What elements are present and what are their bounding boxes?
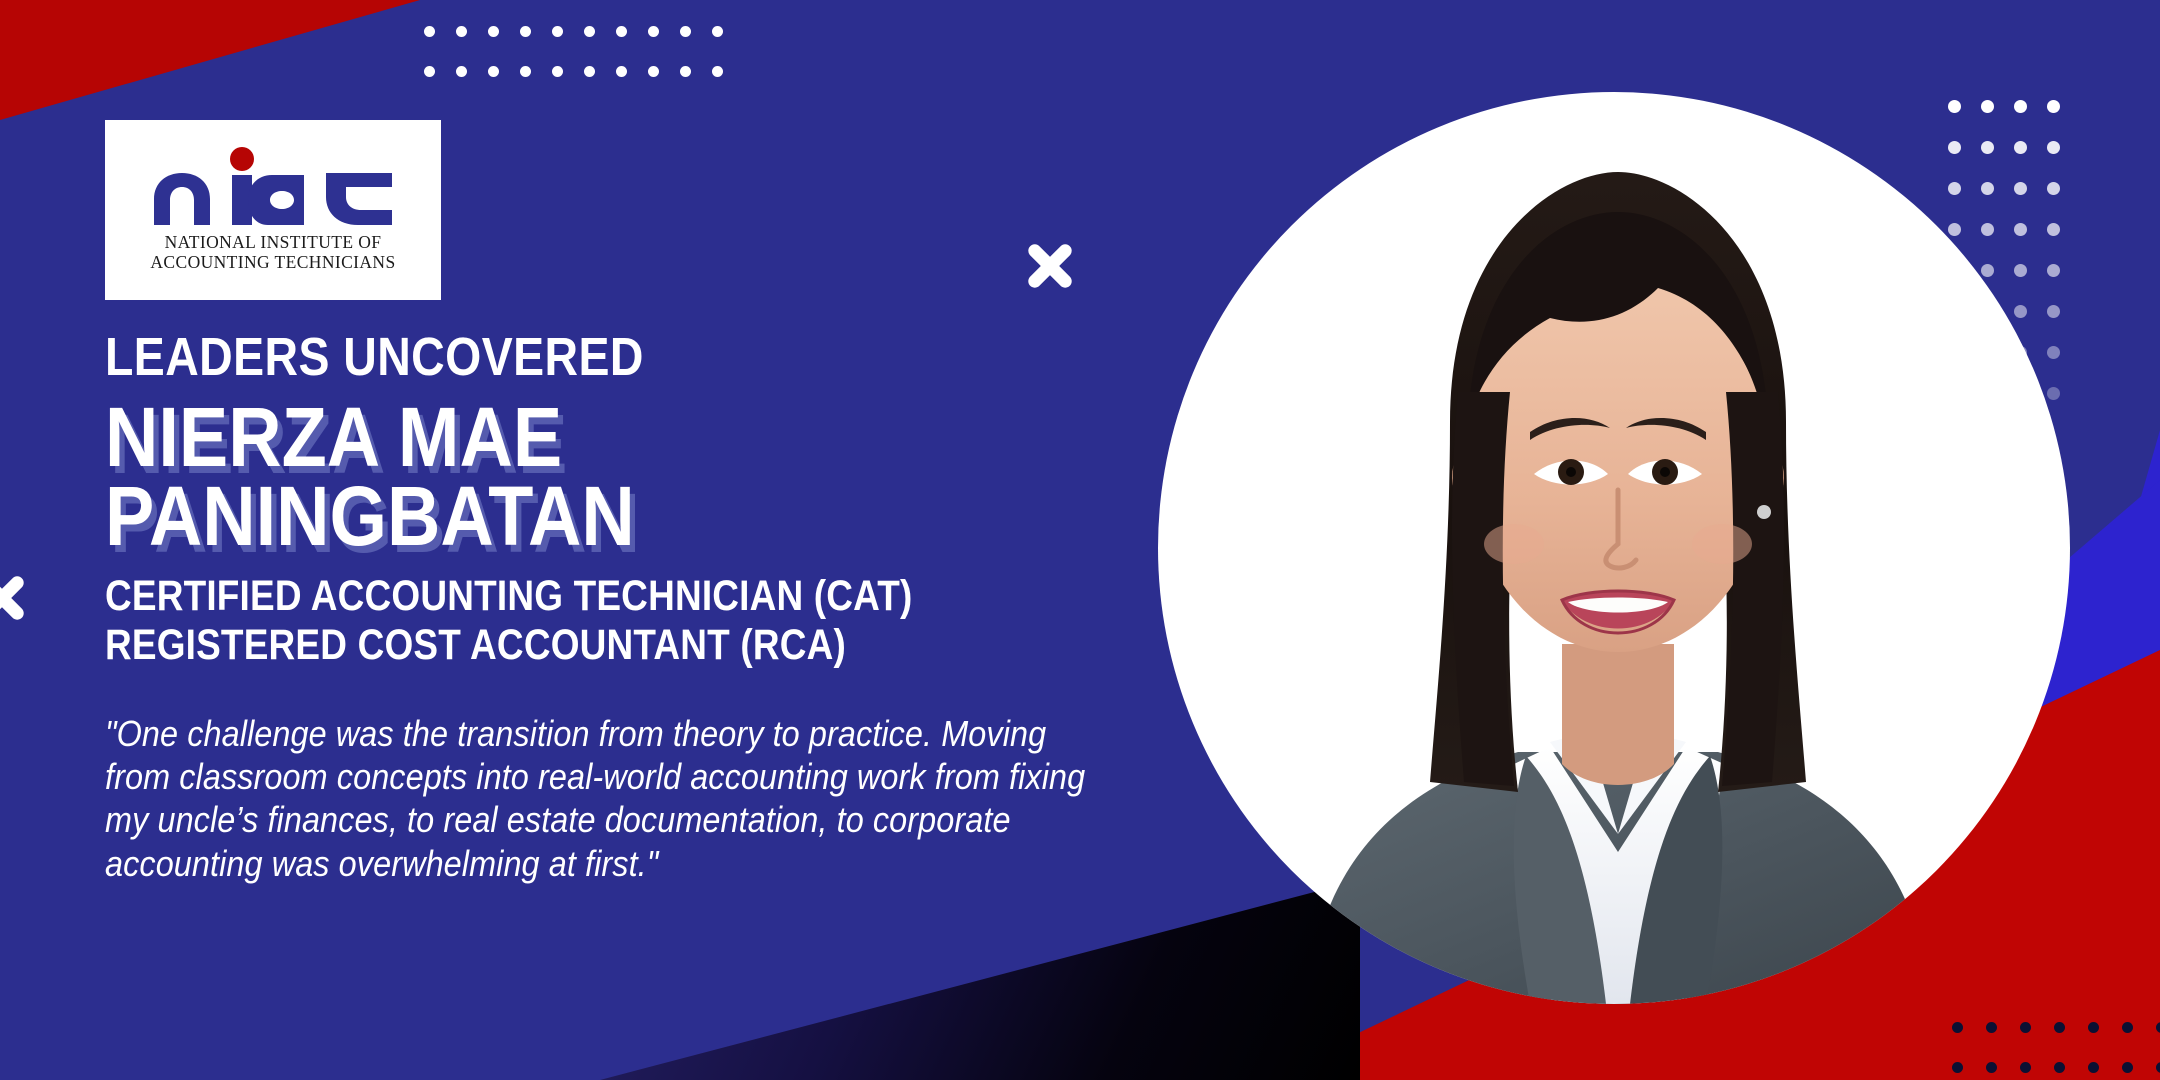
grid-dot bbox=[552, 26, 563, 37]
grid-dot bbox=[1986, 1022, 1997, 1033]
grid-dot bbox=[424, 66, 435, 77]
grid-dot bbox=[648, 26, 659, 37]
grid-dot bbox=[680, 66, 691, 77]
grid-dot bbox=[680, 26, 691, 37]
grid-dot bbox=[520, 66, 531, 77]
grid-dot bbox=[2054, 1062, 2065, 1073]
grid-dot bbox=[456, 66, 467, 77]
grid-dot bbox=[1952, 1062, 1963, 1073]
cross-icon bbox=[1022, 238, 1078, 294]
grid-dot bbox=[456, 26, 467, 37]
grid-dot bbox=[584, 66, 595, 77]
top-left-red-triangle bbox=[0, 0, 420, 120]
grid-dot bbox=[2020, 1062, 2031, 1073]
grid-dot bbox=[1986, 1062, 1997, 1073]
pull-quote: "One challenge was the transition from t… bbox=[105, 712, 1095, 885]
grid-dot bbox=[2156, 1062, 2160, 1073]
grid-dot bbox=[584, 26, 595, 37]
grid-dot bbox=[648, 66, 659, 77]
grid-dot bbox=[712, 66, 723, 77]
series-eyebrow: LEADERS UNCOVERED bbox=[105, 330, 991, 384]
page-title: NIERZA MAE PANINGBATAN bbox=[105, 398, 1011, 556]
grid-dot bbox=[2088, 1062, 2099, 1073]
grid-dot bbox=[616, 26, 627, 37]
cross-icon bbox=[0, 570, 30, 626]
grid-dot bbox=[2122, 1022, 2133, 1033]
credentials-text: CERTIFIED ACCOUNTING TECHNICIAN (CAT) RE… bbox=[105, 572, 991, 670]
grid-dot bbox=[520, 26, 531, 37]
grid-dot bbox=[2156, 1022, 2160, 1033]
grid-dot bbox=[2088, 1022, 2099, 1033]
grid-dot bbox=[1952, 1022, 1963, 1033]
bottom-right-dot-grid bbox=[1952, 1022, 2160, 1080]
logo-red-dot bbox=[230, 147, 254, 171]
grid-dot bbox=[2122, 1062, 2133, 1073]
grid-dot bbox=[424, 26, 435, 37]
grid-dot bbox=[616, 66, 627, 77]
grid-dot bbox=[2020, 1022, 2031, 1033]
copy-block: LEADERS UNCOVERED NIERZA MAE PANINGBATAN… bbox=[105, 330, 1135, 885]
portrait-illustration bbox=[1158, 92, 2070, 1004]
grid-dot bbox=[488, 26, 499, 37]
grid-dot bbox=[488, 66, 499, 77]
poster-canvas: NATIONAL INSTITUTE OF ACCOUNTING TECHNIC… bbox=[0, 0, 2160, 1080]
avatar bbox=[1158, 92, 2070, 1004]
grid-dot bbox=[712, 26, 723, 37]
niat-logo-card: NATIONAL INSTITUTE OF ACCOUNTING TECHNIC… bbox=[105, 120, 441, 300]
niat-logo-icon bbox=[148, 147, 398, 225]
top-dot-grid bbox=[424, 26, 744, 106]
logo-subtitle: NATIONAL INSTITUTE OF ACCOUNTING TECHNIC… bbox=[150, 233, 395, 272]
grid-dot bbox=[2054, 1022, 2065, 1033]
grid-dot bbox=[552, 66, 563, 77]
